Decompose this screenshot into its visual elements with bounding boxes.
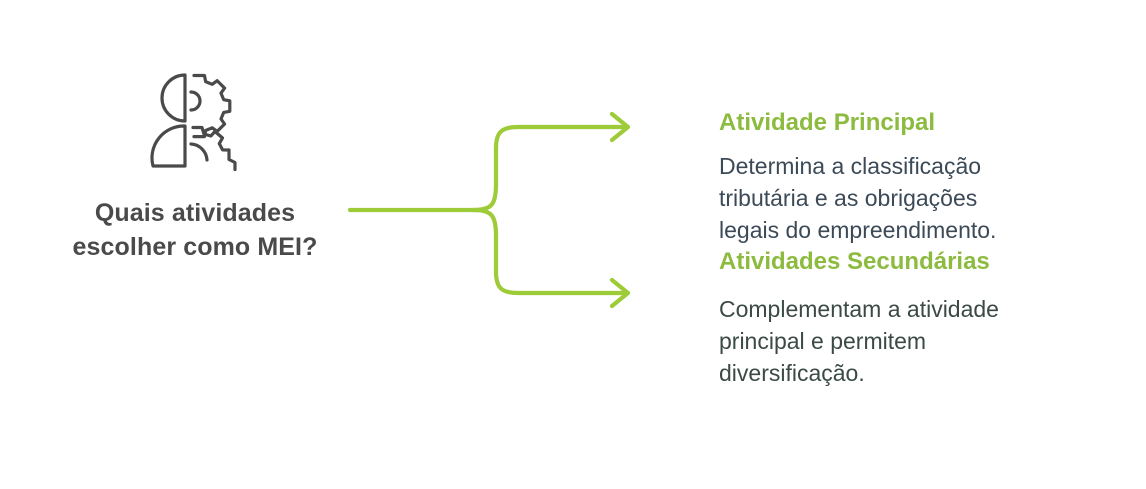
infographic-canvas: Quais atividades escolher como MEI? Ativ… <box>0 0 1146 489</box>
list-item: Atividade Principal Determina a classifi… <box>719 108 1119 247</box>
branch-body-secondary: Complementam a atividade principal e per… <box>719 293 1119 390</box>
person-gear-skills-icon <box>147 70 243 174</box>
branch-heading-secondary: Atividades Secundárias <box>719 247 1119 277</box>
connector-branch-bottom <box>474 210 625 293</box>
question-block: Quais atividades escolher como MEI? <box>0 70 390 264</box>
list-item: Atividades Secundárias Complementam a at… <box>719 247 1119 390</box>
connector-branch-top <box>474 127 625 210</box>
fork-arrow-connector <box>340 100 650 320</box>
branches-list: Atividade Principal Determina a classifi… <box>719 108 1119 389</box>
branch-heading-primary: Atividade Principal <box>719 108 1119 138</box>
page-title: Quais atividades escolher como MEI? <box>25 196 365 264</box>
branch-body-primary: Determina a classificação tributária e a… <box>719 150 1119 247</box>
